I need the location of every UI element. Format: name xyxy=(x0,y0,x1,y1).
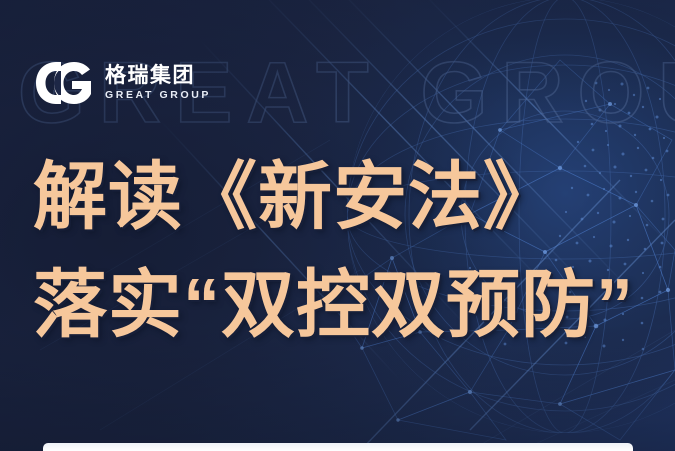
cg-monogram-icon xyxy=(34,60,96,106)
poster-canvas: GREAT GROUP 格瑞集团 GREAT GROUP 解读《新安法》 落实“… xyxy=(0,0,675,451)
headline-block: 解读《新安法》 落实“双控双预防” xyxy=(33,160,634,342)
headline-line-1: 解读《新安法》 xyxy=(33,160,634,234)
bottom-content-card xyxy=(43,443,633,451)
brand-logo: 格瑞集团 GREAT GROUP xyxy=(34,60,211,106)
logo-name-cn: 格瑞集团 xyxy=(105,65,211,86)
logo-wordmark: 格瑞集团 GREAT GROUP xyxy=(105,65,211,101)
headline-line-2: 落实“双控双预防” xyxy=(33,268,634,342)
logo-name-en: GREAT GROUP xyxy=(105,90,211,101)
